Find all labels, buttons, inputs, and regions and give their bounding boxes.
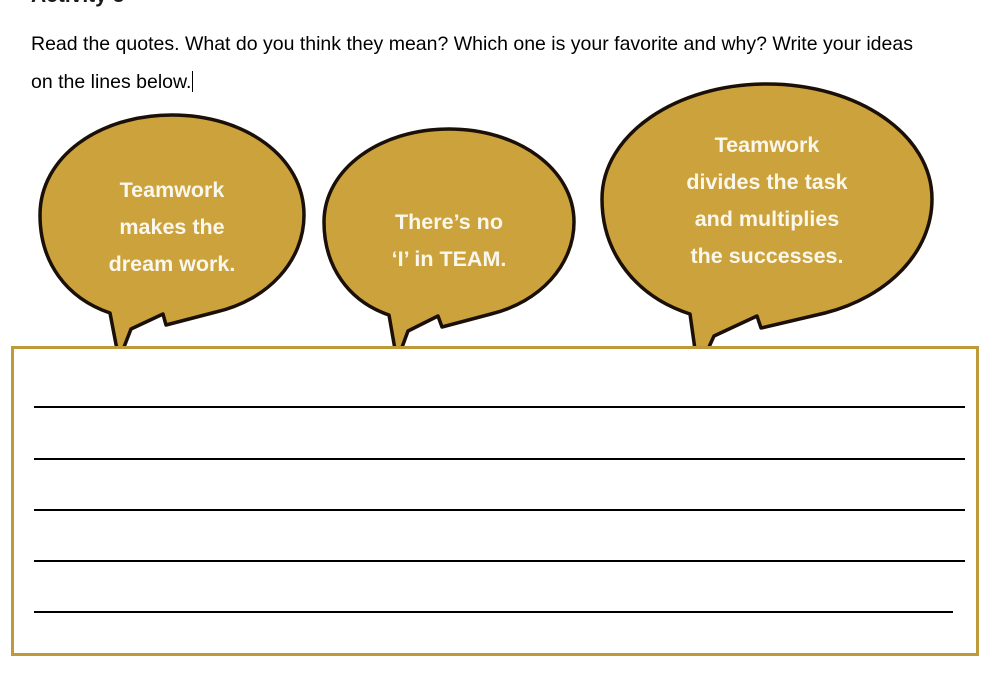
answer-line-1[interactable] bbox=[34, 406, 965, 408]
speech-bubble-shape-icon bbox=[320, 125, 578, 364]
answer-box[interactable] bbox=[11, 346, 979, 656]
quote-bubble-1: Teamwork makes the dream work. bbox=[36, 111, 308, 364]
answer-line-5[interactable] bbox=[34, 611, 953, 613]
speech-bubble-shape-icon bbox=[36, 111, 308, 364]
quote-bubbles-group: Teamwork makes the dream work. There’s n… bbox=[0, 78, 1002, 333]
answer-line-3[interactable] bbox=[34, 509, 965, 511]
answer-line-4[interactable] bbox=[34, 560, 965, 562]
quote-bubble-3: Teamwork divides the task and multiplies… bbox=[598, 80, 936, 374]
answer-lines-group bbox=[34, 349, 966, 653]
speech-bubble-shape-icon bbox=[598, 80, 936, 374]
activity-heading: Activity 3 bbox=[31, 0, 124, 8]
answer-line-2[interactable] bbox=[34, 458, 965, 460]
quote-bubble-2: There’s no ‘I’ in TEAM. bbox=[320, 125, 578, 364]
